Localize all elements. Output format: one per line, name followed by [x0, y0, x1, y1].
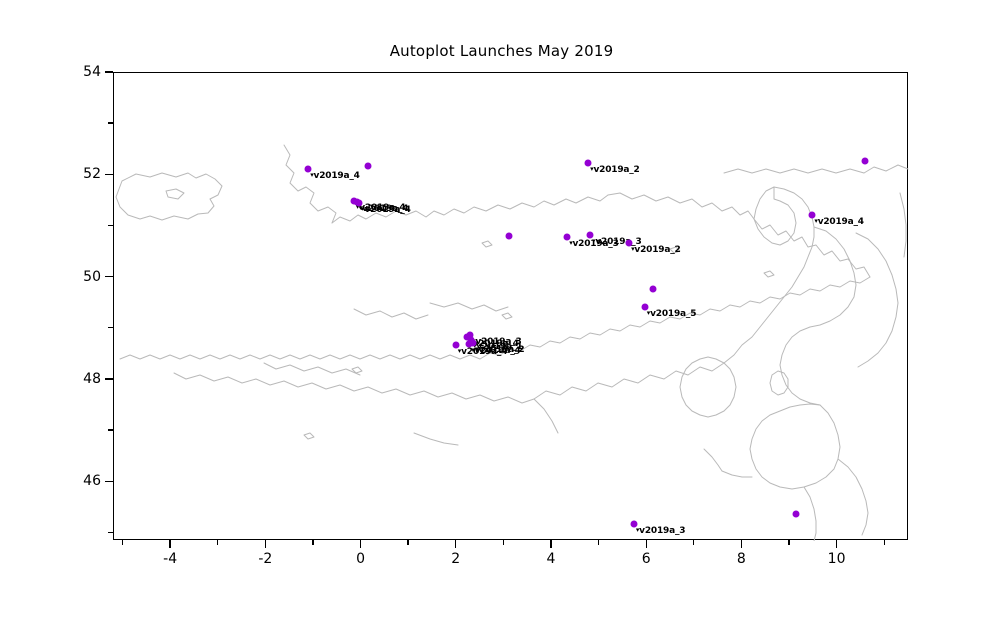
x-tick-1	[407, 540, 408, 545]
y-tick-47	[108, 429, 113, 430]
data-point-label-text: v2019a_4	[818, 217, 864, 227]
data-point-label: ▾v2019a_3	[636, 526, 685, 536]
y-tick-label-52: 52	[73, 166, 101, 182]
y-tick-49	[108, 327, 113, 328]
y-tick-53	[108, 122, 113, 123]
x-tick--1	[312, 540, 313, 545]
data-point-label: ▾v2019a_4	[471, 346, 520, 356]
chart-title: Autoplot Launches May 2019	[0, 42, 1003, 60]
y-tick-label-50: 50	[73, 269, 101, 285]
data-point-label: ▾v2019a_4	[361, 205, 410, 215]
x-tick-label--2: -2	[258, 551, 272, 567]
y-tick-52	[105, 174, 113, 175]
data-point[interactable]	[792, 510, 799, 517]
x-tick-6	[646, 540, 647, 548]
x-tick-label-10: 10	[828, 551, 846, 567]
y-tick-label-48: 48	[73, 371, 101, 387]
x-tick-7	[693, 540, 694, 545]
y-tick-label-46: 46	[73, 473, 101, 489]
data-point-label-text: v2019a_2	[593, 165, 639, 175]
x-tick-label-6: 6	[642, 551, 651, 567]
y-tick-48	[105, 378, 113, 379]
x-tick-label-0: 0	[356, 551, 365, 567]
y-tick-label-54: 54	[73, 64, 101, 80]
y-tick-46	[105, 481, 113, 482]
data-point-label-text: v2019a_2	[634, 245, 680, 255]
y-tick-51	[108, 225, 113, 226]
x-tick-0	[360, 540, 361, 548]
data-point-label: ▾v2019a_5	[647, 309, 696, 319]
x-tick-11	[884, 540, 885, 545]
data-point-label-text: v2019a_4	[364, 205, 410, 215]
data-point[interactable]	[862, 157, 869, 164]
data-points-layer: ▾v2019a_4▾v2019a_4▾v2019a_4▾v2019a_4▾v20…	[114, 73, 909, 541]
x-tick-label-4: 4	[546, 551, 555, 567]
data-point-label: ▾v2019a_4	[814, 217, 863, 227]
x-tick--5	[122, 540, 123, 545]
x-tick-9	[788, 540, 789, 545]
data-point[interactable]	[506, 232, 513, 239]
x-tick-label--4: -4	[163, 551, 177, 567]
plot-area: ▾v2019a_4▾v2019a_4▾v2019a_4▾v2019a_4▾v20…	[113, 72, 908, 540]
x-tick-label-2: 2	[451, 551, 460, 567]
x-tick-5	[598, 540, 599, 545]
x-tick-4	[550, 540, 551, 548]
y-tick-45	[108, 532, 113, 533]
x-tick--3	[217, 540, 218, 545]
x-tick--2	[265, 540, 266, 548]
data-point-label-text: v2019a_4	[314, 171, 360, 181]
y-tick-50	[105, 276, 113, 277]
data-point[interactable]	[364, 163, 371, 170]
data-point-label-text: v2019a_5	[650, 309, 696, 319]
x-tick-8	[741, 540, 742, 548]
x-tick-2	[455, 540, 456, 548]
figure-canvas: Autoplot Launches May 2019	[0, 0, 1003, 633]
x-tick-label-8: 8	[737, 551, 746, 567]
data-point-label: ▾v2019a_4	[310, 171, 359, 181]
data-point-label-text: v2019a_3	[639, 526, 685, 536]
data-point-label-text: v2019a_4	[474, 346, 520, 356]
data-point-label: ▾v2019a_2	[590, 165, 639, 175]
data-point[interactable]	[649, 285, 656, 292]
x-tick--4	[169, 540, 170, 548]
x-tick-10	[836, 540, 837, 548]
y-tick-54	[105, 71, 113, 72]
data-point-label: ▾v2019a_2	[631, 245, 680, 255]
x-tick-3	[503, 540, 504, 545]
